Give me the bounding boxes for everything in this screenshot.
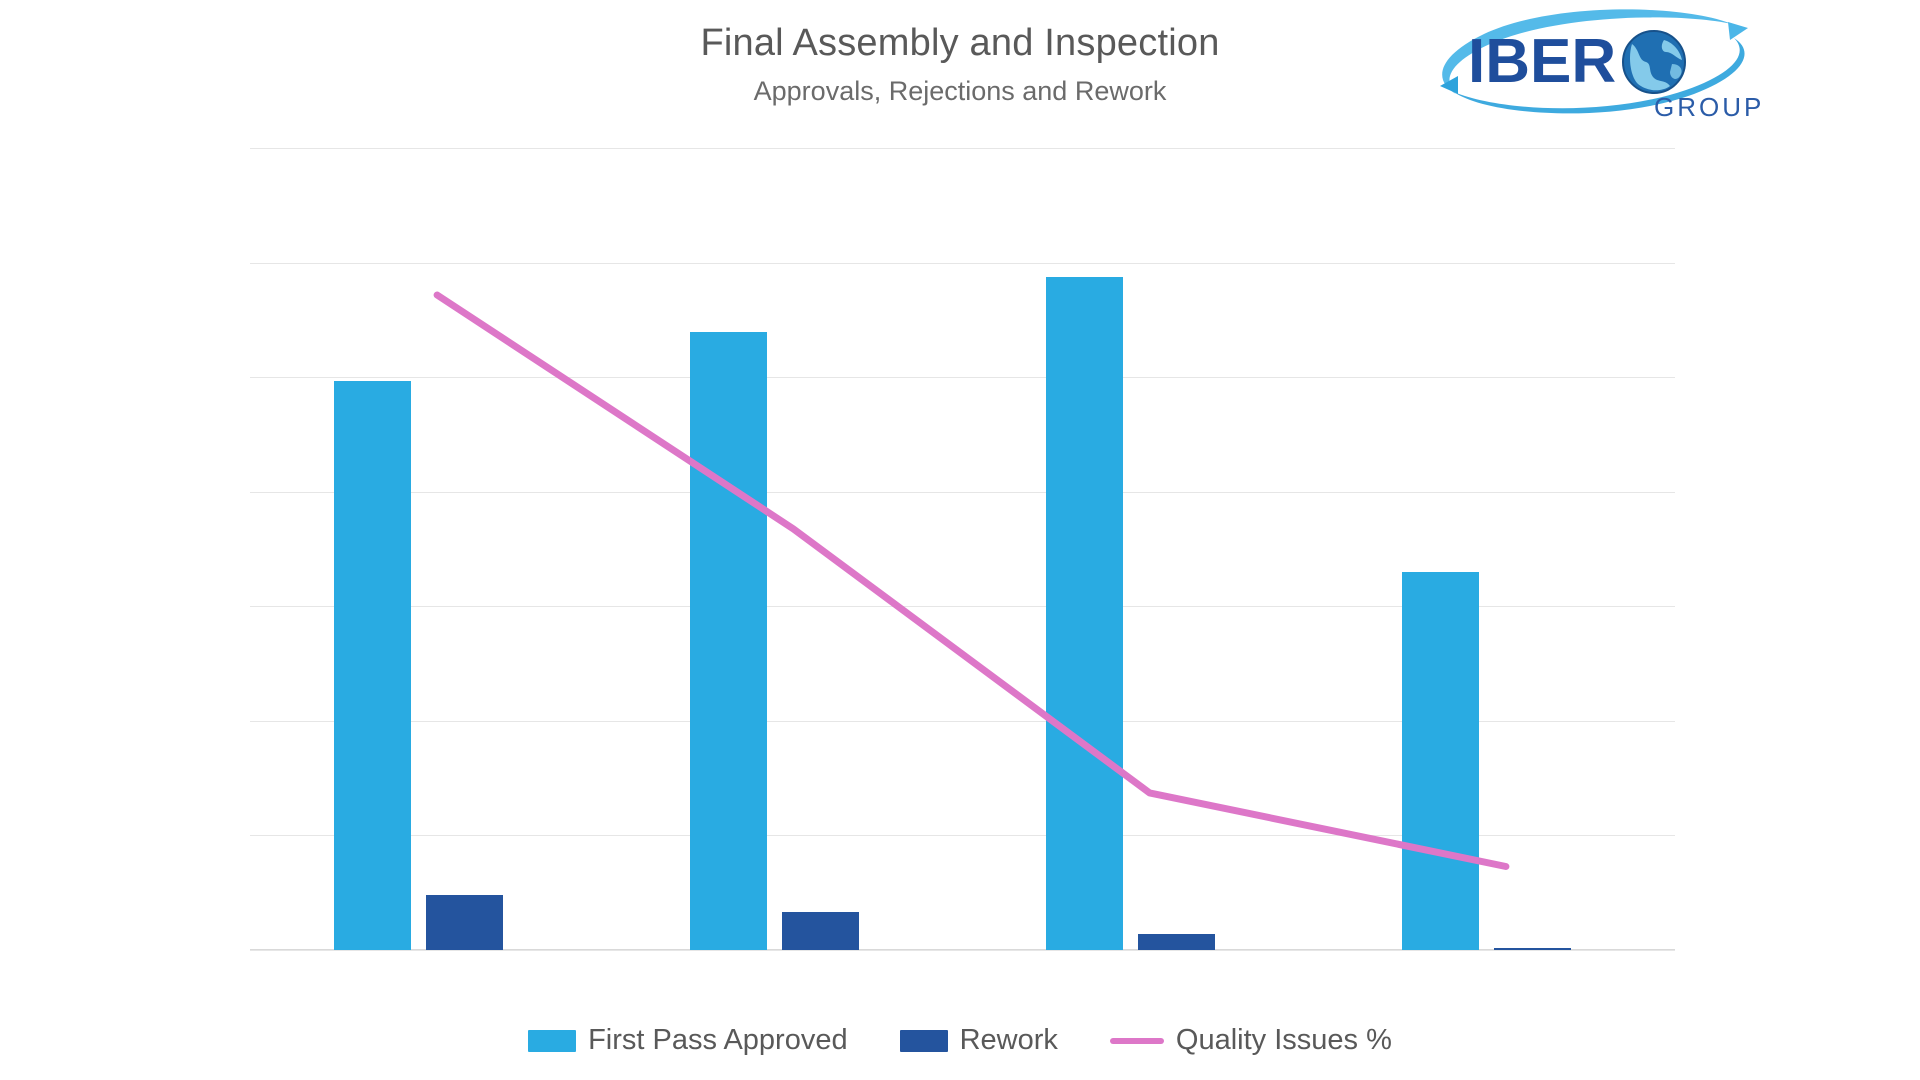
bar-rework-month-4 xyxy=(1494,948,1571,950)
quality-issues-polyline xyxy=(437,295,1506,867)
gridline xyxy=(250,263,1675,264)
svg-text:IBER: IBER xyxy=(1468,27,1616,96)
chart-legend: First Pass ApprovedReworkQuality Issues … xyxy=(0,1024,1920,1057)
bar-first-pass-approved-month-3 xyxy=(1046,277,1123,950)
bar-rework-month-1 xyxy=(426,895,503,950)
gridline xyxy=(250,377,1675,378)
logo-icon: IBER GROUP xyxy=(1432,6,1762,128)
bar-rework-month-3 xyxy=(1138,934,1215,950)
plot-area: 01002003004005006007000%2%4%6%8%10%12%Mo… xyxy=(250,148,1675,950)
legend-swatch-icon xyxy=(528,1030,576,1052)
legend-label: First Pass Approved xyxy=(588,1024,848,1057)
legend-item-first-pass-approved[interactable]: First Pass Approved xyxy=(528,1024,848,1057)
legend-item-rework[interactable]: Rework xyxy=(900,1024,1058,1057)
legend-line-icon xyxy=(1110,1038,1164,1044)
legend-swatch-icon xyxy=(900,1030,948,1052)
gridline xyxy=(250,492,1675,493)
legend-label: Rework xyxy=(960,1024,1058,1057)
bar-first-pass-approved-month-1 xyxy=(334,381,411,950)
chart-container: Final Assembly and Inspection Approvals,… xyxy=(0,0,1920,1080)
gridline xyxy=(250,148,1675,149)
ibero-group-logo: IBER GROUP xyxy=(1432,6,1762,128)
legend-item-quality-issues[interactable]: Quality Issues % xyxy=(1110,1024,1392,1057)
bar-first-pass-approved-month-2 xyxy=(690,332,767,950)
legend-label: Quality Issues % xyxy=(1176,1024,1392,1057)
bar-first-pass-approved-month-4 xyxy=(1402,572,1479,950)
svg-text:GROUP: GROUP xyxy=(1654,92,1762,122)
gridline xyxy=(250,950,1675,951)
bar-rework-month-2 xyxy=(782,912,859,950)
